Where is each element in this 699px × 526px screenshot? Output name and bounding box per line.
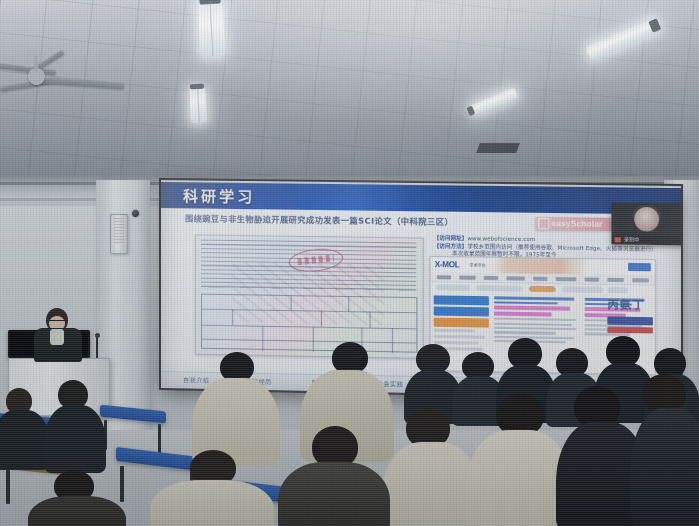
presenter-glasses-icon xyxy=(49,320,65,324)
seated-student xyxy=(44,380,104,470)
ceiling xyxy=(0,0,699,186)
seated-student xyxy=(0,388,50,468)
wall-speaker xyxy=(110,214,128,254)
xmol-login-button xyxy=(628,263,651,271)
security-camera xyxy=(132,210,139,217)
bookmark-icon xyxy=(538,218,549,229)
webcam-face xyxy=(634,207,659,232)
seated-student xyxy=(278,426,388,526)
seated-student xyxy=(150,450,270,526)
fluorescent-tube-light xyxy=(189,88,207,124)
easyscholar-label: easyScholar xyxy=(552,219,603,229)
seated-student xyxy=(28,470,124,526)
record-dot-icon xyxy=(615,237,621,242)
fluorescent-tube-light xyxy=(198,1,226,56)
seated-student xyxy=(630,374,699,524)
lecture-hall-photo: 科研学习 围绕豌豆与非生物胁迫开展研究成功发表一篇SCI论文（中科院三区） ea… xyxy=(0,0,699,526)
xmol-logo-subtitle: 学术平台 xyxy=(469,263,485,269)
xmol-logo: X-MOL xyxy=(435,260,460,269)
xmol-filter-row xyxy=(431,282,655,296)
xmol-ad-text: 丙氨丁 xyxy=(607,296,653,313)
xmol-ad-panel: 丙氨丁 xyxy=(607,296,653,333)
ceiling-fan xyxy=(0,38,130,88)
slide-title: 科研学习 xyxy=(183,185,255,207)
seated-student xyxy=(466,394,570,526)
seated-student xyxy=(382,408,478,526)
ceiling-vent xyxy=(476,143,520,153)
webcam-label: 录制中 xyxy=(624,236,640,243)
webcam-statusbar xyxy=(611,235,681,245)
slide-headline: 围绕豌豆与非生物胁迫开展研究成功发表一篇SCI论文（中科院三区） xyxy=(185,212,453,228)
ceiling-shading xyxy=(0,0,699,186)
audience xyxy=(0,330,699,526)
webcam-strip: 录制中 xyxy=(611,203,681,246)
seated-student xyxy=(192,352,278,462)
